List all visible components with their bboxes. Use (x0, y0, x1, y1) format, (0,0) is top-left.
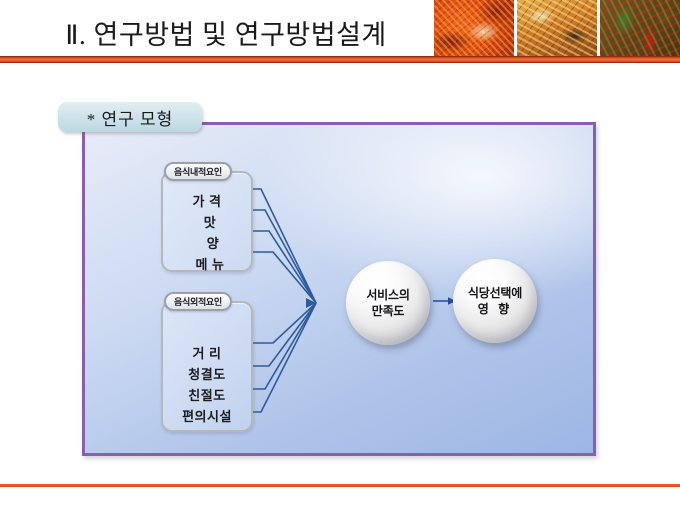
factor-box-external: 음식외적요인 거 리 청결도 친절도 편의시설 (161, 301, 253, 432)
node-service-satisfaction-line1: 서비스의 (366, 287, 409, 303)
connector-line-taste (253, 210, 316, 303)
slide-canvas: Ⅱ. 연구방법 및 연구방법설계 * 연구 모형 (0, 0, 680, 510)
node-restaurant-choice: 식당선택에 영 향 (453, 259, 537, 343)
page-title: Ⅱ. 연구방법 및 연구방법설계 (26, 8, 426, 56)
connector-line-distance (253, 303, 316, 343)
connector-line-menu (253, 252, 316, 303)
connector-line-facilities (253, 303, 316, 412)
factor-item-kindness: 친절도 (163, 385, 251, 406)
factor-item-price: 가 격 (163, 191, 251, 212)
node-restaurant-choice-line1: 식당선택에 (468, 285, 522, 301)
factor-box-internal-items: 가 격 맛 양 메 뉴 (163, 191, 251, 275)
factor-item-menu: 메 뉴 (163, 254, 251, 275)
research-model-diagram: 음식내적요인 가 격 맛 양 메 뉴 음식외적요인 거 리 청결도 친절도 편의… (82, 122, 596, 456)
connector-line-price (253, 189, 316, 303)
factor-item-cleanliness: 청결도 (163, 364, 251, 385)
factor-item-taste: 맛 (163, 212, 251, 233)
connector-arrowhead (306, 298, 316, 308)
factor-item-distance: 거 리 (163, 343, 251, 364)
header-photo-strip (434, 0, 680, 58)
section-tab: * 연구 모형 (58, 102, 202, 132)
factor-box-internal: 음식내적요인 가 격 맛 양 메 뉴 (161, 171, 253, 272)
node-restaurant-choice-line2: 영 향 (478, 301, 512, 317)
header-divider-rule (0, 56, 680, 63)
node-service-satisfaction: 서비스의 만족도 (346, 261, 430, 345)
footer-divider-rule (0, 484, 680, 487)
factor-box-external-items: 거 리 청결도 친절도 편의시설 (163, 343, 251, 427)
factor-item-quantity: 양 (163, 233, 251, 254)
factor-item-facilities: 편의시설 (163, 406, 251, 427)
food-photo-stirfry (600, 0, 680, 58)
connector-line-quantity (253, 231, 316, 303)
node-service-satisfaction-line2: 만족도 (372, 303, 405, 319)
factor-box-internal-badge: 음식내적요인 (164, 162, 232, 181)
food-photo-rice-bowl (434, 0, 514, 58)
factor-box-external-badge: 음식외적요인 (164, 292, 232, 311)
connector-line-cleanliness (253, 303, 316, 366)
food-photo-noodles (517, 0, 597, 58)
connector-line-kindness (253, 303, 316, 389)
section-tab-label: * 연구 모형 (87, 105, 174, 130)
